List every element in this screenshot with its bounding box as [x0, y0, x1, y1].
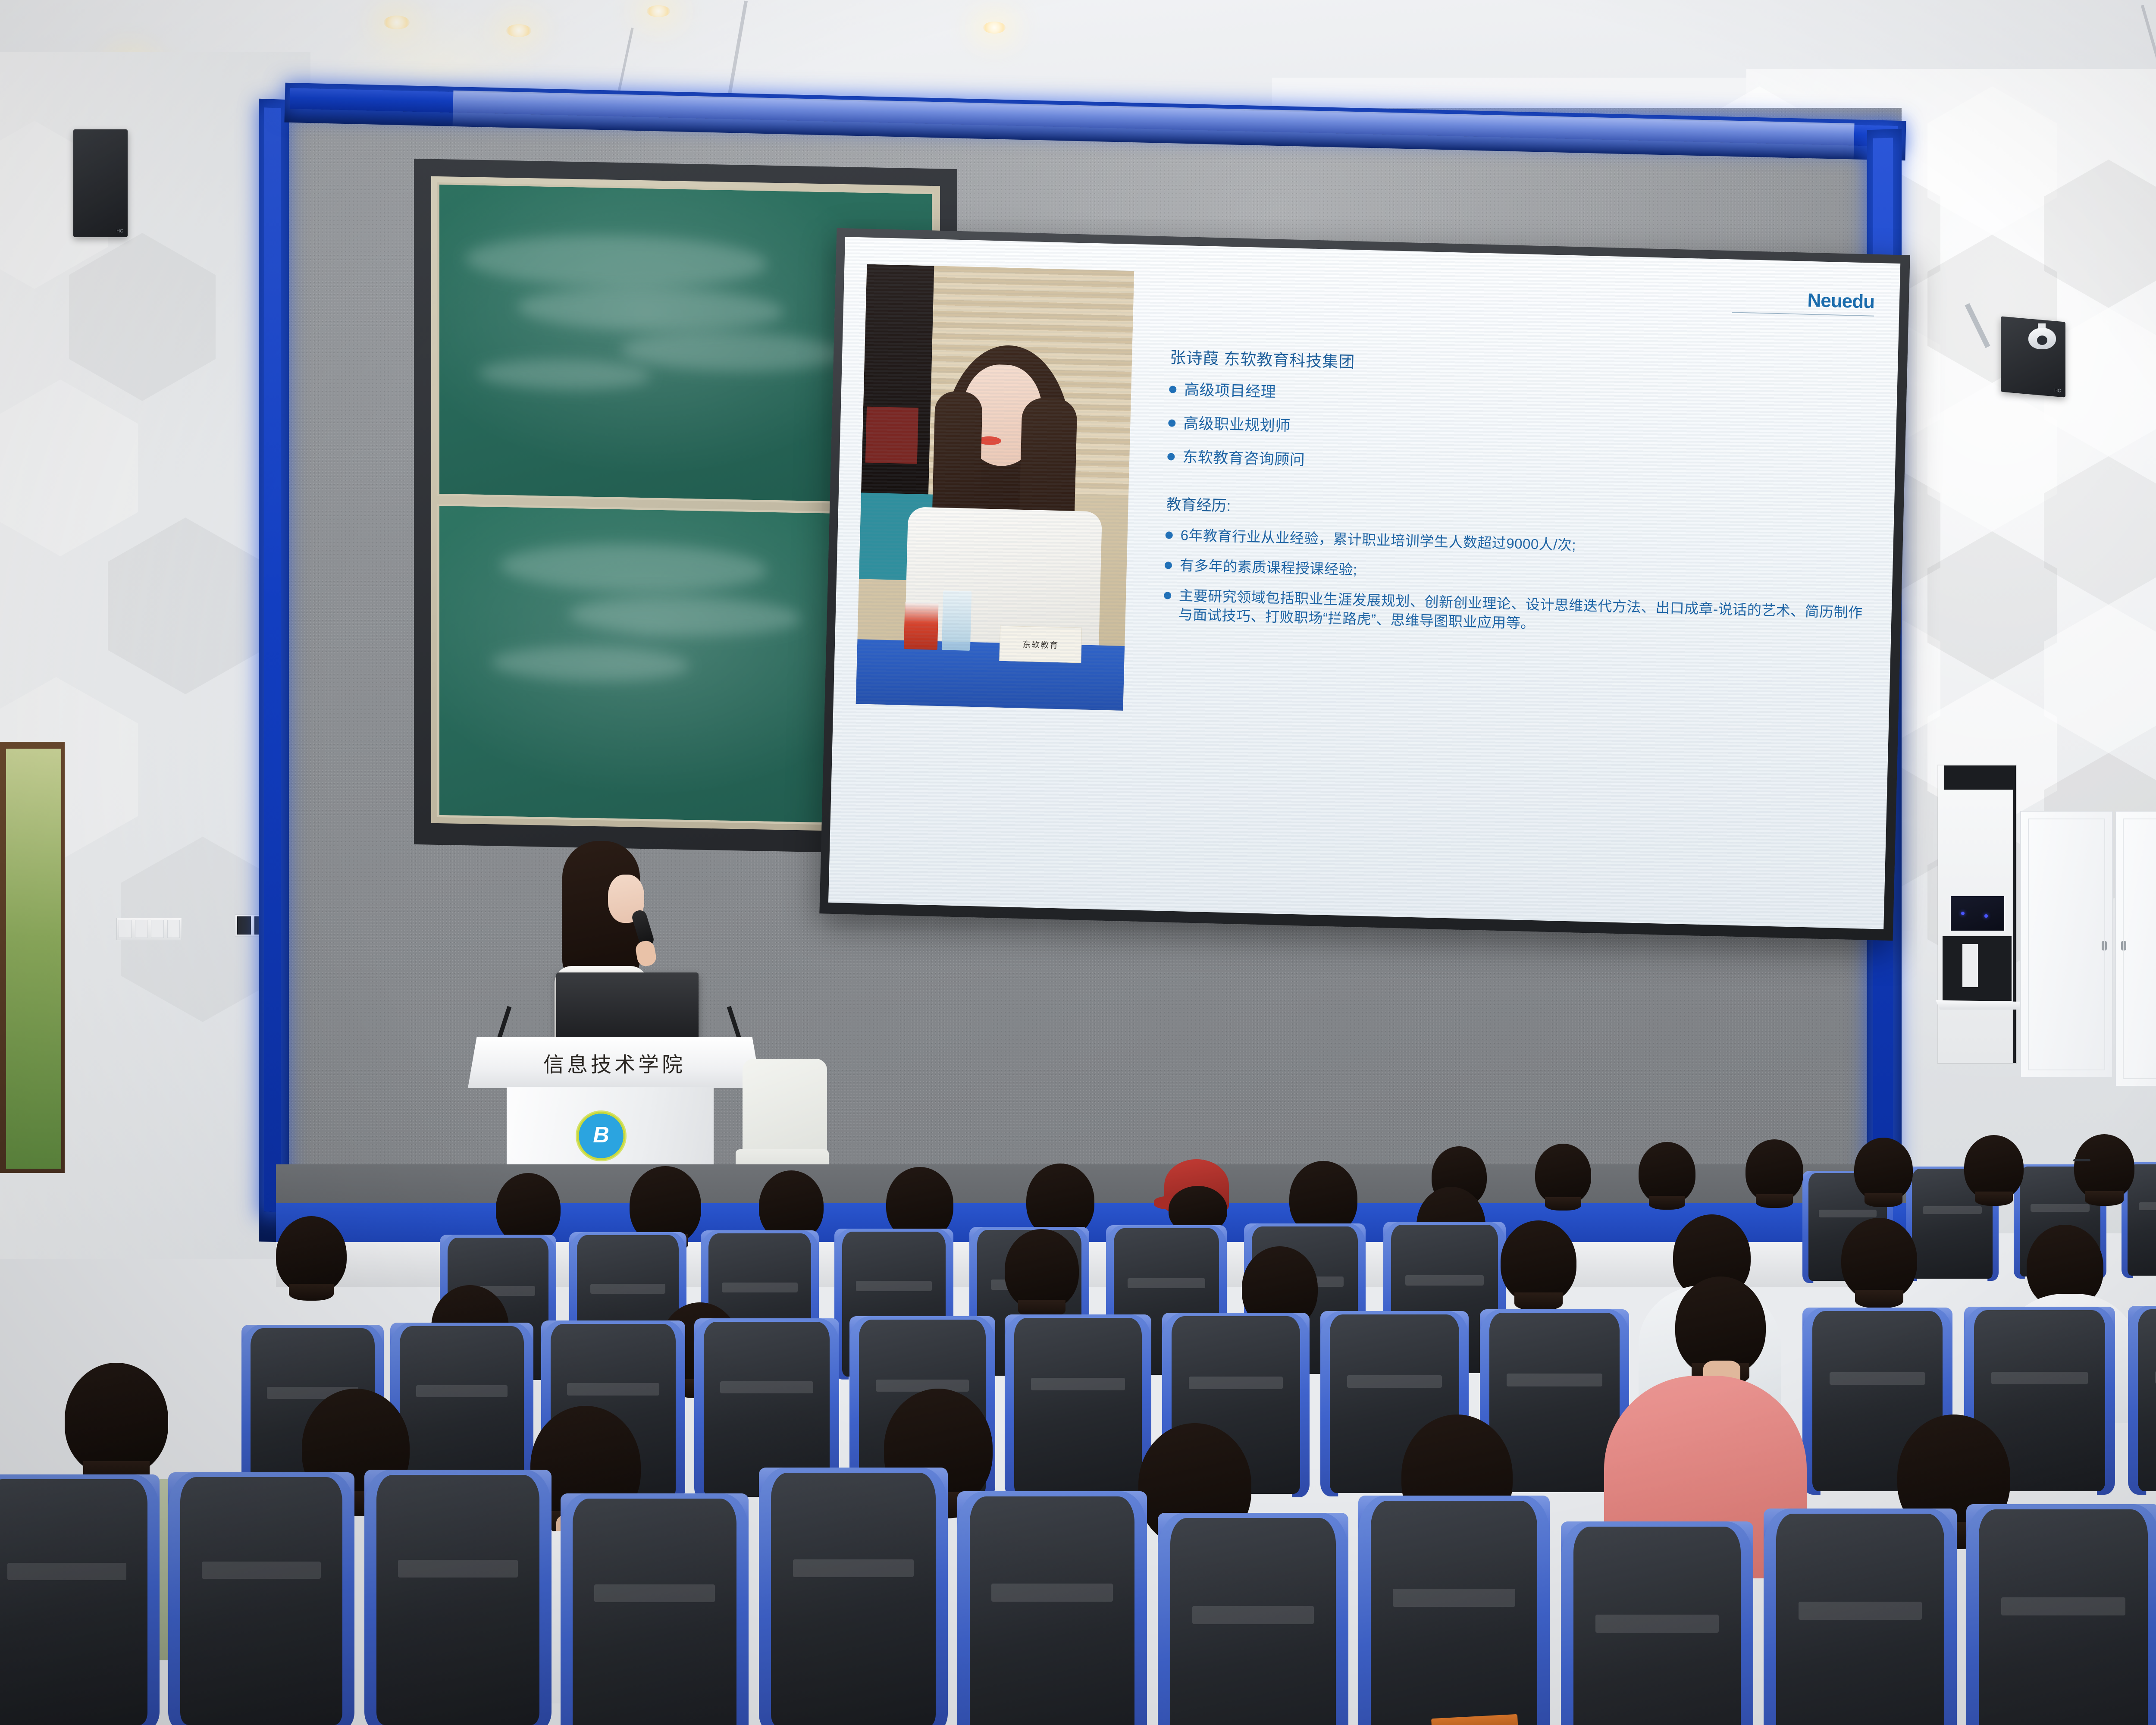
credential-text: 东软教育咨询顾问	[1182, 447, 1305, 470]
list-item: 6年教育行业从业经验，累计职业培训学生人数超过9000人/次;	[1165, 525, 1868, 562]
list-item: 高级项目经理	[1169, 379, 1871, 417]
bullet-icon	[1167, 453, 1175, 460]
auditorium-seat[interactable]	[561, 1499, 749, 1725]
bullet-icon	[1166, 531, 1173, 539]
auditorium-seat[interactable]	[364, 1475, 552, 1725]
experience-text: 主要研究领域包括职业生涯发展规划、创新创业理论、设计思维迭代方法、出口成章-说话…	[1178, 586, 1866, 642]
experience-list: 6年教育行业从业经验，累计职业培训学生人数超过9000人/次; 有多年的素质课程…	[1163, 525, 1868, 642]
audience-head	[1745, 1139, 1803, 1202]
wall-speaker: HC	[73, 129, 128, 237]
auditorium-seat[interactable]	[2128, 1309, 2156, 1491]
audience-head	[1854, 1138, 1913, 1201]
audience-head	[1639, 1142, 1695, 1204]
kiosk-slot	[1962, 944, 1978, 987]
speaker-photo: 东软教育	[856, 264, 1134, 711]
auditorium-seat[interactable]	[1005, 1318, 1151, 1495]
list-item: 高级职业规划师	[1168, 413, 1871, 451]
audience-head	[65, 1363, 168, 1476]
presenter-monitor[interactable]	[556, 972, 699, 1046]
door-handle[interactable]	[2102, 941, 2107, 950]
auditorium-seat[interactable]	[1561, 1527, 1753, 1725]
experience-text: 有多年的素质课程授课经验;	[1179, 556, 1357, 580]
credential-text: 高级项目经理	[1184, 380, 1276, 402]
slide-content: 东软教育 Neuedu 张诗葭 东软教育科技集团 高级项目经理 高级职业规划师 …	[828, 237, 1900, 929]
light-switch[interactable]	[151, 920, 164, 938]
bullet-icon	[1164, 592, 1171, 599]
lecture-hall-photo: HC	[0, 0, 2156, 1725]
name-card-text: 东软教育	[1022, 638, 1059, 650]
audience-head	[276, 1216, 347, 1294]
credential-text: 高级职业规划师	[1183, 414, 1291, 436]
auditorium-seat[interactable]	[1158, 1518, 1348, 1725]
auditorium-seat[interactable]	[1358, 1501, 1550, 1725]
light-switch[interactable]	[135, 920, 148, 938]
speaker-name-line: 张诗葭 东软教育科技集团	[1170, 344, 1872, 385]
kiosk-header	[1944, 765, 2016, 790]
audience-seating	[0, 1044, 2156, 1725]
auditorium-seat[interactable]	[0, 1479, 160, 1725]
door-handle[interactable]	[2121, 941, 2126, 950]
slide-logo: Neuedu	[1732, 288, 1874, 316]
auditorium-seat[interactable]	[957, 1496, 1147, 1725]
audience-head	[1501, 1220, 1576, 1303]
eyeglasses-icon	[2073, 1159, 2090, 1161]
auditorium-seat[interactable]	[168, 1477, 354, 1725]
name-card: 东软教育	[999, 626, 1082, 663]
kiosk-connector-panel[interactable]	[1943, 936, 2012, 1001]
speaker-brand-mark: HC	[2054, 388, 2061, 393]
experience-text: 6年教育行业从业经验，累计职业培训学生人数超过9000人/次;	[1180, 526, 1576, 555]
audience-head	[1026, 1164, 1094, 1238]
bullet-icon	[1165, 561, 1172, 569]
downlight	[647, 5, 670, 17]
neuedu-logo-text: Neuedu	[1732, 288, 1874, 313]
camera-lens	[2037, 336, 2047, 345]
slide-text-block: 张诗葭 东软教育科技集团 高级项目经理 高级职业规划师 东软教育咨询顾问 教育经…	[1163, 344, 1872, 653]
audience-head	[1841, 1218, 1917, 1301]
dome-camera	[2022, 323, 2062, 351]
water-bottle	[942, 590, 971, 651]
audience-head	[1005, 1229, 1079, 1310]
door-left[interactable]	[2020, 811, 2113, 1078]
status-led	[1961, 912, 1965, 915]
list-item: 东软教育咨询顾问	[1167, 447, 1870, 485]
light-switch-panel[interactable]	[116, 918, 182, 940]
auditorium-seat[interactable]	[759, 1473, 948, 1725]
audience-head	[1964, 1135, 2024, 1200]
list-item: 有多年的素质课程授课经验;	[1164, 555, 1867, 592]
light-switch[interactable]	[119, 920, 132, 938]
audience-head	[2074, 1134, 2134, 1200]
audience-head	[496, 1173, 561, 1244]
status-led	[1984, 914, 1988, 918]
auditorium-seat[interactable]	[1966, 1509, 2156, 1725]
light-switch[interactable]	[167, 920, 180, 938]
projection-screen: 东软教育 Neuedu 张诗葭 东软教育科技集团 高级项目经理 高级职业规划师 …	[819, 228, 1910, 941]
light-switch[interactable]	[237, 916, 251, 935]
list-item: 主要研究领域包括职业生涯发展规划、创新创业理论、设计思维迭代方法、出口成章-说话…	[1163, 586, 1866, 642]
bullet-icon	[1169, 386, 1176, 393]
speaker-brand-mark: HC	[116, 229, 123, 234]
section-heading: 教育经历:	[1166, 492, 1868, 532]
logo-rule	[1732, 312, 1874, 316]
credentials-list: 高级项目经理 高级职业规划师 东软教育咨询顾问	[1167, 379, 1871, 485]
drink-glass	[904, 602, 939, 650]
auditorium-seat[interactable]	[1764, 1514, 1957, 1725]
bullet-icon	[1168, 419, 1175, 427]
kiosk-touchscreen[interactable]	[1949, 895, 2006, 932]
av-control-kiosk[interactable]	[1938, 765, 2016, 1063]
audience-head	[1535, 1144, 1591, 1205]
downlight	[983, 22, 1006, 34]
